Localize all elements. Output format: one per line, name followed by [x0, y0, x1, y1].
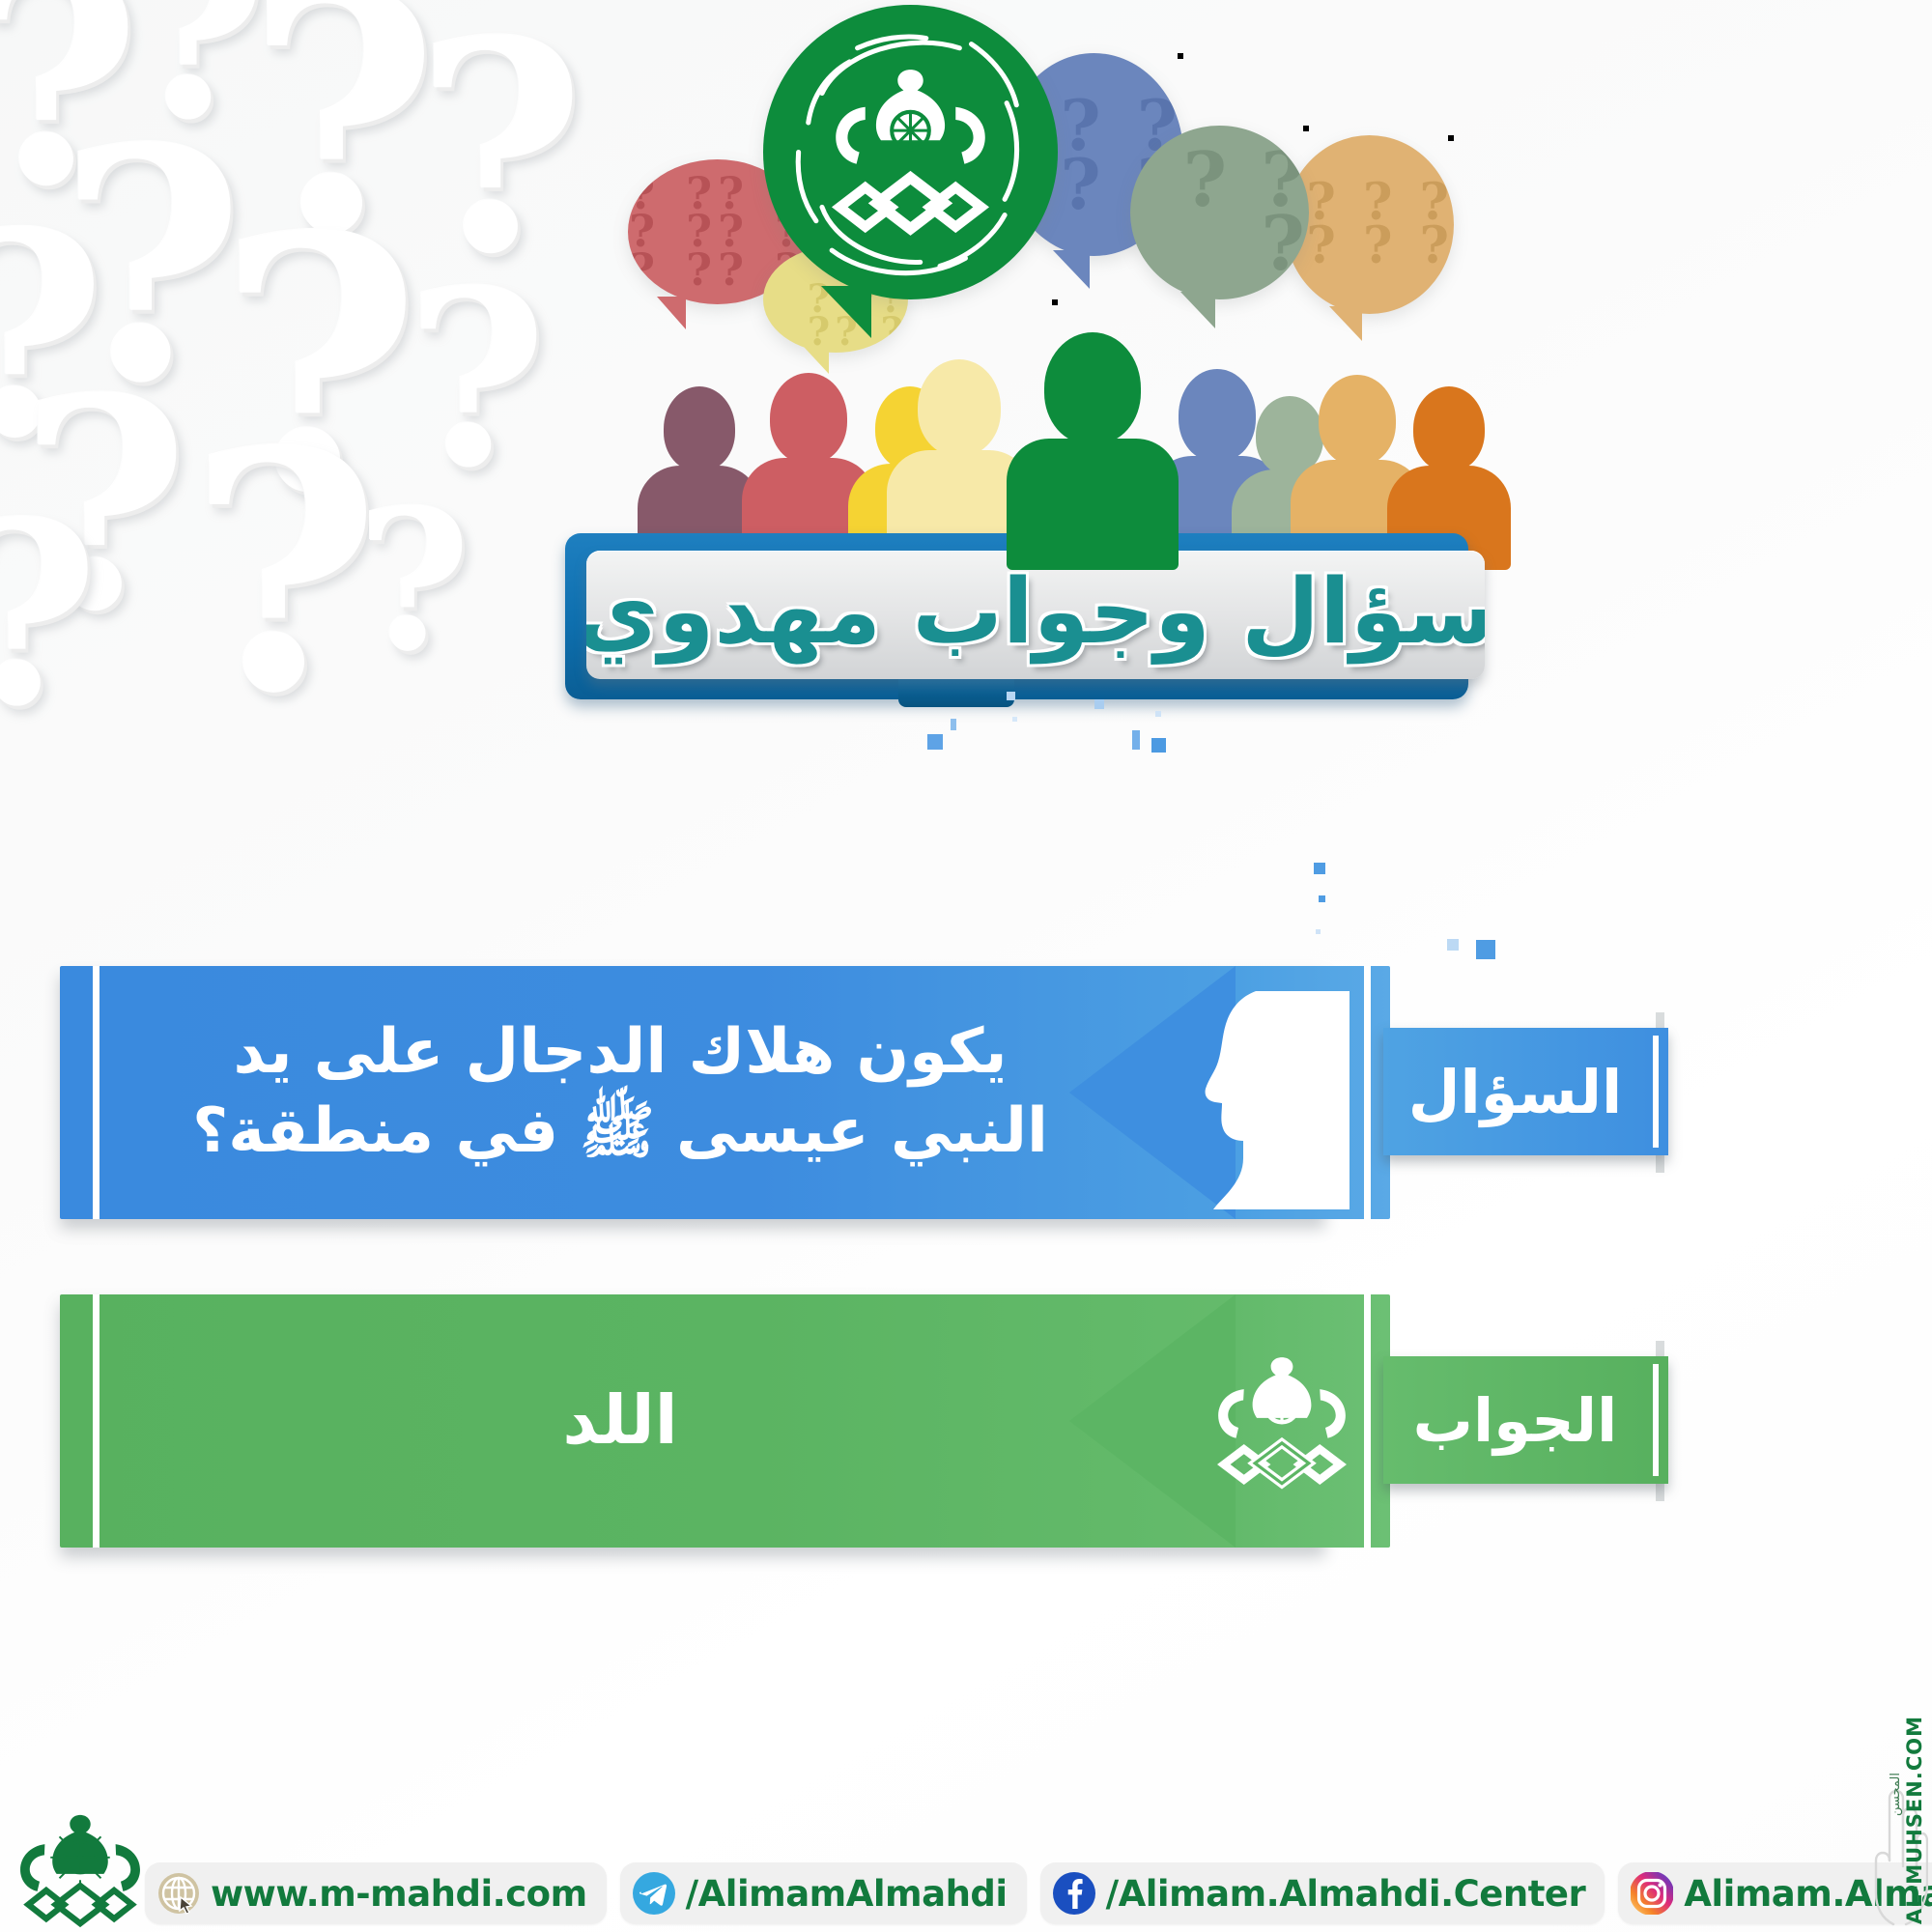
speech-bubble-cluster: ? ?? ? ? ?? ? ? ?? ? ? ? ?? ? ? ?? — [618, 0, 1488, 386]
answer-band-left-rule — [93, 1294, 99, 1548]
poster-canvas: ? ? ? ? ? ? ? ? ? ? ? ? ? ?? ? ? ?? ? ? … — [0, 0, 1932, 1932]
question-band-left-rule — [93, 966, 99, 1219]
question-tab: السؤال — [1383, 1028, 1668, 1155]
center-logo-icon — [8, 1810, 153, 1928]
link-telegram-label: /AlimamAlmahdi — [686, 1873, 1008, 1915]
question-tab-label: السؤال — [1408, 1057, 1623, 1127]
answer-text: اللد — [176, 1294, 1065, 1548]
person-green — [1007, 332, 1179, 570]
sage-bubble: ? ? ? — [1130, 126, 1309, 299]
sand-bubble: ? ? ? ? ? ? — [1285, 135, 1454, 314]
social-links: www.m-mahdi.com /AlimamAlmahdi /Alimam.A… — [145, 1862, 1932, 1924]
instagram-icon — [1630, 1871, 1674, 1916]
answer-tab-rule — [1653, 1364, 1659, 1476]
question-head-silhouette — [1180, 987, 1350, 1219]
page-title: سؤال وجواب مهدوي — [586, 559, 1485, 664]
question-tab-rule — [1653, 1036, 1659, 1148]
link-website[interactable]: www.m-mahdi.com — [145, 1862, 607, 1924]
question-band-right-rule — [1364, 966, 1371, 1219]
link-telegram[interactable]: /AlimamAlmahdi — [620, 1862, 1027, 1924]
watermark-subtext: المحسن — [1889, 1773, 1903, 1816]
question-line-2: النبي عيسى ﷺ في منطقة؟ — [192, 1093, 1048, 1172]
answer-tab-label: الجواب — [1413, 1385, 1618, 1456]
telegram-icon — [632, 1871, 676, 1916]
question-line-1: يكون هلاك الدجال على يد — [234, 1013, 1008, 1093]
question-band: يكون هلاك الدجال على يد النبي عيسى ﷺ في … — [60, 966, 1702, 1219]
emblem-bubble — [763, 5, 1058, 299]
answer-emblem-icon — [1190, 1329, 1374, 1513]
link-facebook[interactable]: /Alimam.Almahdi.Center — [1040, 1862, 1605, 1924]
answer-tab: الجواب — [1383, 1356, 1668, 1484]
answer-band: اللد الجواب — [60, 1294, 1702, 1548]
title-notch — [898, 678, 1014, 707]
link-facebook-label: /Alimam.Almahdi.Center — [1106, 1873, 1586, 1915]
facebook-icon — [1052, 1871, 1096, 1916]
link-website-label: www.m-mahdi.com — [211, 1873, 587, 1915]
answer-value: اللد — [562, 1378, 677, 1464]
watermark-text: AL-MUHSEN.COM — [1903, 1716, 1926, 1924]
footer-bar: www.m-mahdi.com /AlimamAlmahdi /Alimam.A… — [0, 1810, 1932, 1932]
globe-icon — [156, 1871, 201, 1916]
question-text: يكون هلاك الدجال على يد النبي عيسى ﷺ في … — [176, 966, 1065, 1219]
